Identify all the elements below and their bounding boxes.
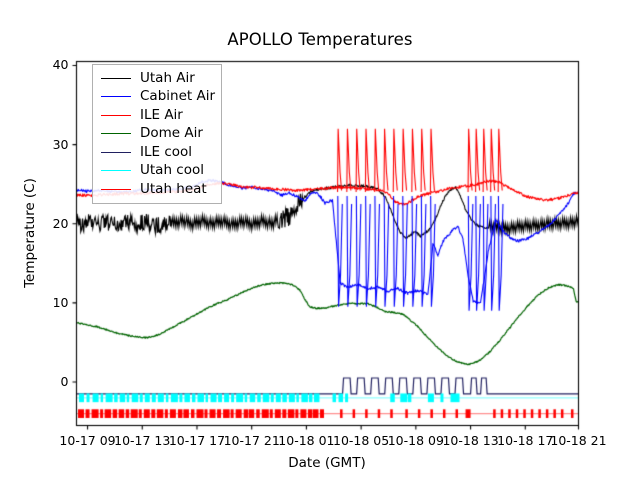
x-tick-label: 10-18 21 [539,433,619,448]
legend-swatch-icon [101,115,131,116]
legend-item-label: Dome Air [140,127,203,141]
legend-swatch-icon [101,152,131,153]
legend-item-ile-air[interactable]: ILE Air [93,106,221,125]
legend-swatch-icon [101,189,131,190]
legend-item-label: Cabinet Air [140,90,215,104]
legend-item-label: Utah heat [140,183,207,197]
y-tick-label: 40 [13,57,69,72]
legend-item-utah-air[interactable]: Utah Air [93,69,221,88]
chart-legend: Utah AirCabinet AirILE AirDome AirILE co… [92,64,222,204]
legend-item-ile-cool[interactable]: ILE cool [93,143,221,162]
legend-item-utah-cool[interactable]: Utah cool [93,162,221,181]
legend-item-label: Utah cool [140,164,204,178]
chart-figure: APOLLO Temperatures Temperature (C) Date… [0,0,640,480]
legend-item-utah-heat[interactable]: Utah heat [93,180,221,199]
legend-item-cabinet-air[interactable]: Cabinet Air [93,88,221,107]
legend-swatch-icon [101,96,131,97]
legend-item-label: Utah Air [140,72,195,86]
legend-item-dome-air[interactable]: Dome Air [93,125,221,144]
legend-swatch-icon [101,78,131,79]
y-tick-label: 30 [13,137,69,152]
legend-swatch-icon [101,133,131,134]
y-tick-label: 10 [13,295,69,310]
legend-swatch-icon [101,170,131,171]
y-tick-label: 20 [13,216,69,231]
legend-item-label: ILE Air [140,109,183,123]
y-tick-label: 0 [13,374,69,389]
legend-item-label: ILE cool [140,146,192,160]
